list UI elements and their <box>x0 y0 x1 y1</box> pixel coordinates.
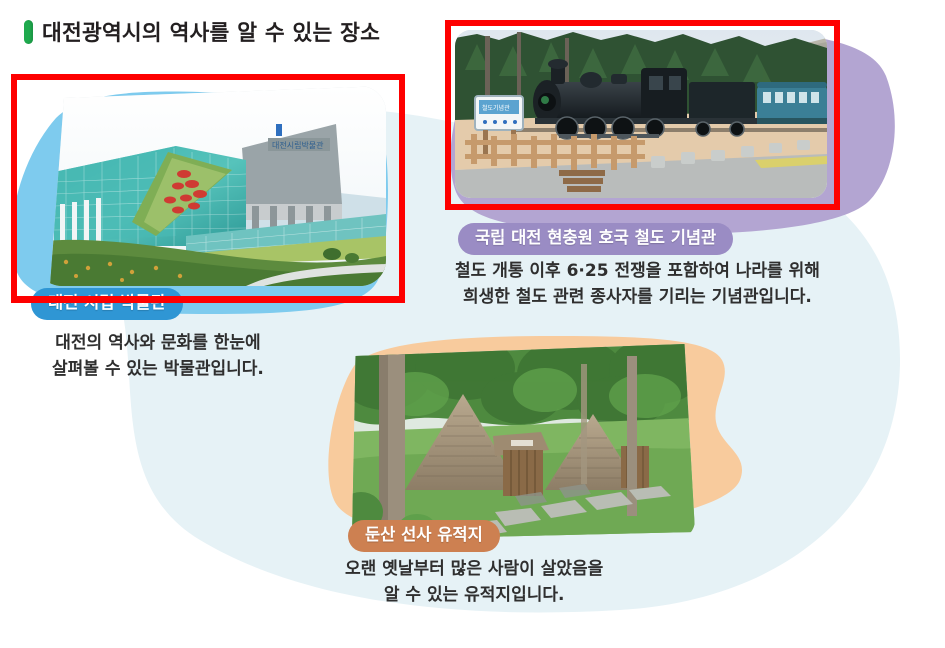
green-pill-bullet-icon <box>24 20 33 44</box>
label-dunsan-prehistoric-site[interactable]: 둔산 선사 유적지 <box>348 520 500 552</box>
caption-railway-memorial: 철도 개통 이후 6·25 전쟁을 포함하여 나라를 위해 희생한 철도 관련 … <box>455 258 820 311</box>
caption-line: 알 수 있는 유적지입니다. <box>345 582 603 608</box>
annotation-red-strikethrough <box>11 296 405 302</box>
caption-line: 희생한 철도 관련 종사자를 기리는 기념관입니다. <box>455 284 820 310</box>
label-daejeon-municipal-museum[interactable]: 대전 시립 박물관 <box>31 288 183 320</box>
caption-dunsan-prehistoric-site: 오랜 옛날부터 많은 사람이 살았음을 알 수 있는 유적지입니다. <box>345 556 603 609</box>
page-root: 대전광역시의 역사를 알 수 있는 장소 <box>0 0 945 648</box>
photo-daejeon-municipal-museum: 대전시립박물관 <box>36 86 386 286</box>
page-title-text: 대전광역시의 역사를 알 수 있는 장소 <box>42 16 380 47</box>
caption-line: 대전의 역사와 문화를 한눈에 <box>52 330 264 356</box>
photo-dunsan-prehistoric-site <box>345 340 695 540</box>
caption-daejeon-municipal-museum: 대전의 역사와 문화를 한눈에 살펴볼 수 있는 박물관입니다. <box>52 330 264 383</box>
photo-railway-memorial: 철도기념관 <box>455 30 827 198</box>
caption-line: 오랜 옛날부터 많은 사람이 살았음을 <box>345 556 603 582</box>
svg-text:철도기념관: 철도기념관 <box>482 104 510 112</box>
label-railway-memorial[interactable]: 국립 대전 현충원 호국 철도 기념관 <box>458 223 733 255</box>
page-title: 대전광역시의 역사를 알 수 있는 장소 <box>24 16 380 47</box>
caption-line: 철도 개통 이후 6·25 전쟁을 포함하여 나라를 위해 <box>455 258 820 284</box>
svg-text:대전시립박물관: 대전시립박물관 <box>272 140 324 150</box>
caption-line: 살펴볼 수 있는 박물관입니다. <box>52 356 264 382</box>
